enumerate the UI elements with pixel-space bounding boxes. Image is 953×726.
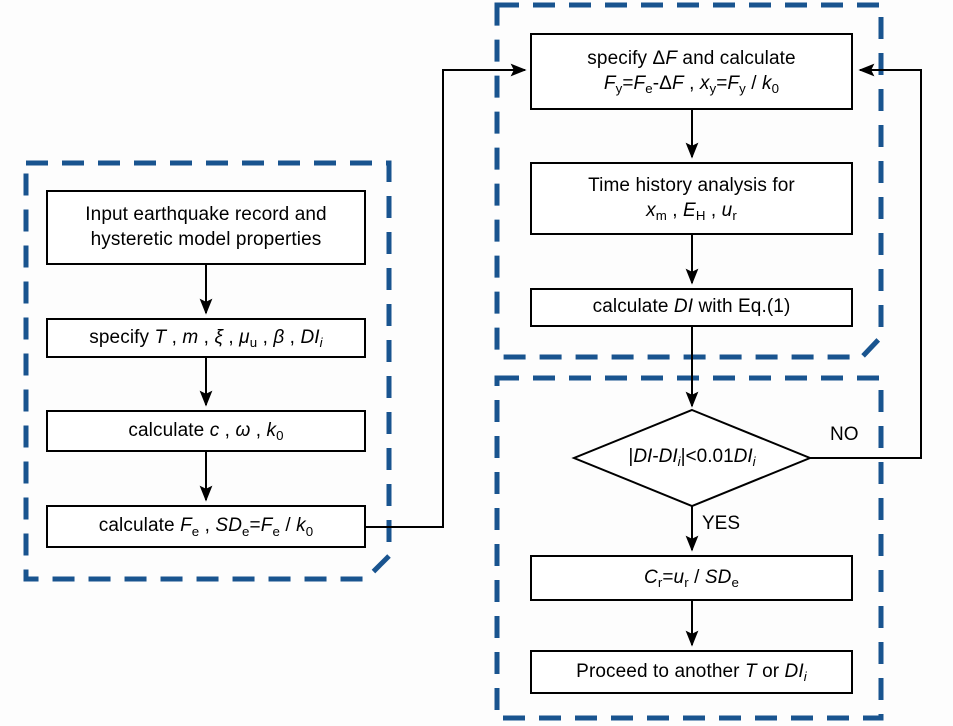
node-specify-params-text: specify T , m , ξ , μu , β , DIi: [89, 326, 322, 350]
node-time-history-text: Time history analysis for xm , EH , ur: [588, 174, 795, 223]
node-proceed[interactable]: Proceed to another T or DIi: [530, 650, 853, 694]
node-calculate-di[interactable]: calculate DI with Eq.(1): [530, 288, 853, 327]
node-proceed-text: Proceed to another T or DIi: [576, 660, 807, 684]
node-specify-df[interactable]: specify ΔF and calculate Fy=Fe-ΔF , xy=F…: [530, 33, 853, 110]
node-specify-df-text: specify ΔF and calculate Fy=Fe-ΔF , xy=F…: [587, 47, 795, 96]
edge-label-yes: YES: [702, 513, 740, 535]
edge-decision-no-loop: [810, 70, 921, 458]
edge-label-no: NO: [830, 424, 859, 446]
node-calculate-fe-text: calculate Fe , SDe=Fe / k0: [99, 514, 313, 538]
node-calculate-c[interactable]: calculate c , ω , k0: [46, 410, 366, 452]
node-specify-params[interactable]: specify T , m , ξ , μu , β , DIi: [46, 318, 366, 358]
flowchart-canvas: Input earthquake record and hysteretic m…: [0, 0, 953, 726]
node-calculate-c-text: calculate c , ω , k0: [128, 419, 283, 443]
decision-label: |DI-DIi|<0.01DIi: [574, 446, 810, 468]
node-input-record[interactable]: Input earthquake record and hysteretic m…: [46, 190, 366, 265]
node-calculate-di-text: calculate DI with Eq.(1): [593, 295, 791, 319]
node-calculate-fe[interactable]: calculate Fe , SDe=Fe / k0: [46, 505, 366, 548]
node-input-record-text: Input earthquake record and hysteretic m…: [85, 203, 326, 252]
node-time-history[interactable]: Time history analysis for xm , EH , ur: [530, 162, 853, 235]
node-compute-cr-text: Cr=ur / SDe: [644, 566, 739, 590]
node-compute-cr[interactable]: Cr=ur / SDe: [530, 555, 853, 601]
